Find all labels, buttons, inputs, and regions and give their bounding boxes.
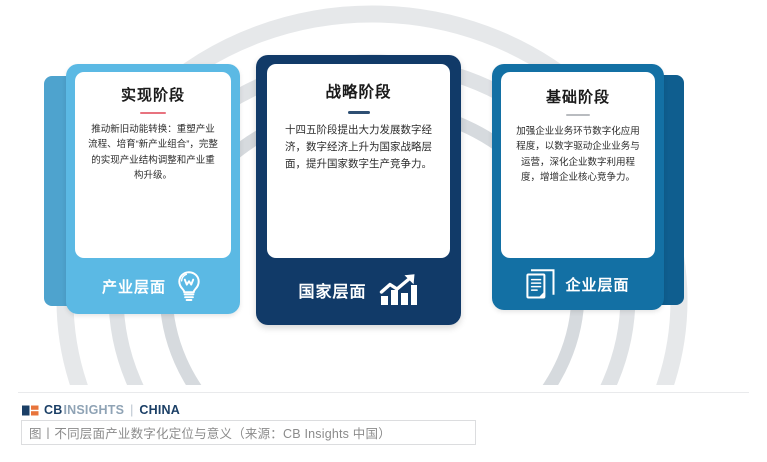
card-face: 实现阶段 推动新旧动能转换：重塑产业流程、培育“新产业组合”，完整的实现产业结构… [66,64,240,314]
title-divider [348,111,370,114]
card-band-label: 企业层面 [565,274,629,295]
lightbulb-icon [174,269,204,303]
figure-footer: CB INSIGHTS | CHINA 图丨不同层面产业数字化定位与意义（来源：… [0,385,767,462]
card-body-text: 十四五阶段提出大力发展数字经济，数字经济上升为国家战略层面，提升国家数字生产竞争… [281,122,436,173]
card-industry-layer[interactable]: 实现阶段 推动新旧动能转换：重塑产业流程、培育“新产业组合”，完整的实现产业结构… [44,64,240,320]
card-title: 实现阶段 [88,84,218,105]
card-band: 产业层面 [75,264,231,308]
card-face: 战略阶段 十四五阶段提出大力发展数字经济，数字经济上升为国家战略层面，提升国家数… [256,55,461,325]
infographic-figure: 实现阶段 推动新旧动能转换：重塑产业流程、培育“新产业组合”，完整的实现产业结构… [0,0,767,385]
card-enterprise-layer[interactable]: 基础阶段 加强企业业务环节数字化应用程度，以数字驱动企业业务与运营，深化企业数字… [492,64,684,316]
card-title: 基础阶段 [513,86,643,107]
brand-insights-text: INSIGHTS [63,404,124,417]
card-text-panel: 基础阶段 加强企业业务环节数字化应用程度，以数字驱动企业业务与运营，深化企业数字… [501,72,655,258]
footer-divider [18,392,749,393]
title-divider [140,112,166,114]
figure-caption-text: 图丨不同层面产业数字化定位与意义（来源：CB Insights 中国） [29,423,391,442]
card-band: 国家层面 [267,265,450,315]
cb-insights-china-logo: CB INSIGHTS | CHINA [22,404,180,417]
card-band-label: 国家层面 [298,278,366,302]
card-face: 基础阶段 加强企业业务环节数字化应用程度，以数字驱动企业业务与运营，深化企业数字… [492,64,664,310]
figure-caption-box: 图丨不同层面产业数字化定位与意义（来源：CB Insights 中国） [21,420,476,445]
brand-cb-text: CB [44,404,62,417]
card-national-layer[interactable]: 战略阶段 十四五阶段提出大力发展数字经济，数字经济上升为国家战略层面，提升国家数… [256,55,461,325]
card-text-panel: 实现阶段 推动新旧动能转换：重塑产业流程、培育“新产业组合”，完整的实现产业结构… [75,72,231,258]
bar-chart-arrow-icon [379,273,419,307]
card-text-panel: 战略阶段 十四五阶段提出大力发展数字经济，数字经济上升为国家战略层面，提升国家数… [267,64,450,258]
card-title: 战略阶段 [281,80,436,102]
title-divider [566,114,590,116]
cb-insights-logo-mark [22,405,39,416]
brand-divider: | [129,404,134,417]
brand-china-text: CHINA [139,404,180,417]
card-body-text: 推动新旧动能转换：重塑产业流程、培育“新产业组合”，完整的实现产业结构调整和产业… [88,122,218,184]
card-band: 企业层面 [501,263,655,305]
documents-icon [526,267,556,301]
card-band-label: 产业层面 [102,276,166,297]
card-body-text: 加强企业业务环节数字化应用程度，以数字驱动企业业务与运营，深化企业数字利用程度，… [513,124,643,186]
